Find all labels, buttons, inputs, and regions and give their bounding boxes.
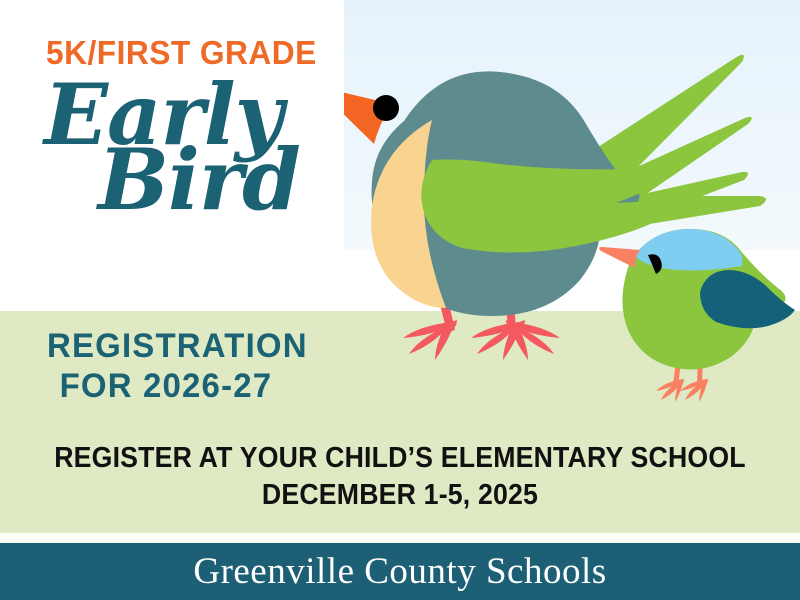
script-headline-line2: Bird	[98, 141, 340, 218]
footer-white-gap	[0, 533, 800, 543]
registration-heading: REGISTRATION FOR 2026-27	[47, 326, 308, 406]
registration-line2: FOR 2026-27	[60, 366, 308, 406]
cta-line1: REGISTER AT YOUR CHILD’S ELEMENTARY SCHO…	[32, 440, 768, 477]
early-bird-registration-poster: 5K/FIRST GRADE Early Bird REGISTRATION F…	[0, 0, 800, 600]
script-headline: Early Bird	[40, 76, 340, 219]
footer-bar: Greenville County Schools	[0, 543, 800, 600]
footer-district-name: Greenville County Schools	[193, 553, 606, 590]
registration-line1: REGISTRATION	[47, 326, 308, 366]
cta-line2: DECEMBER 1-5, 2025	[32, 477, 768, 514]
call-to-action: REGISTER AT YOUR CHILD’S ELEMENTARY SCHO…	[32, 440, 768, 514]
